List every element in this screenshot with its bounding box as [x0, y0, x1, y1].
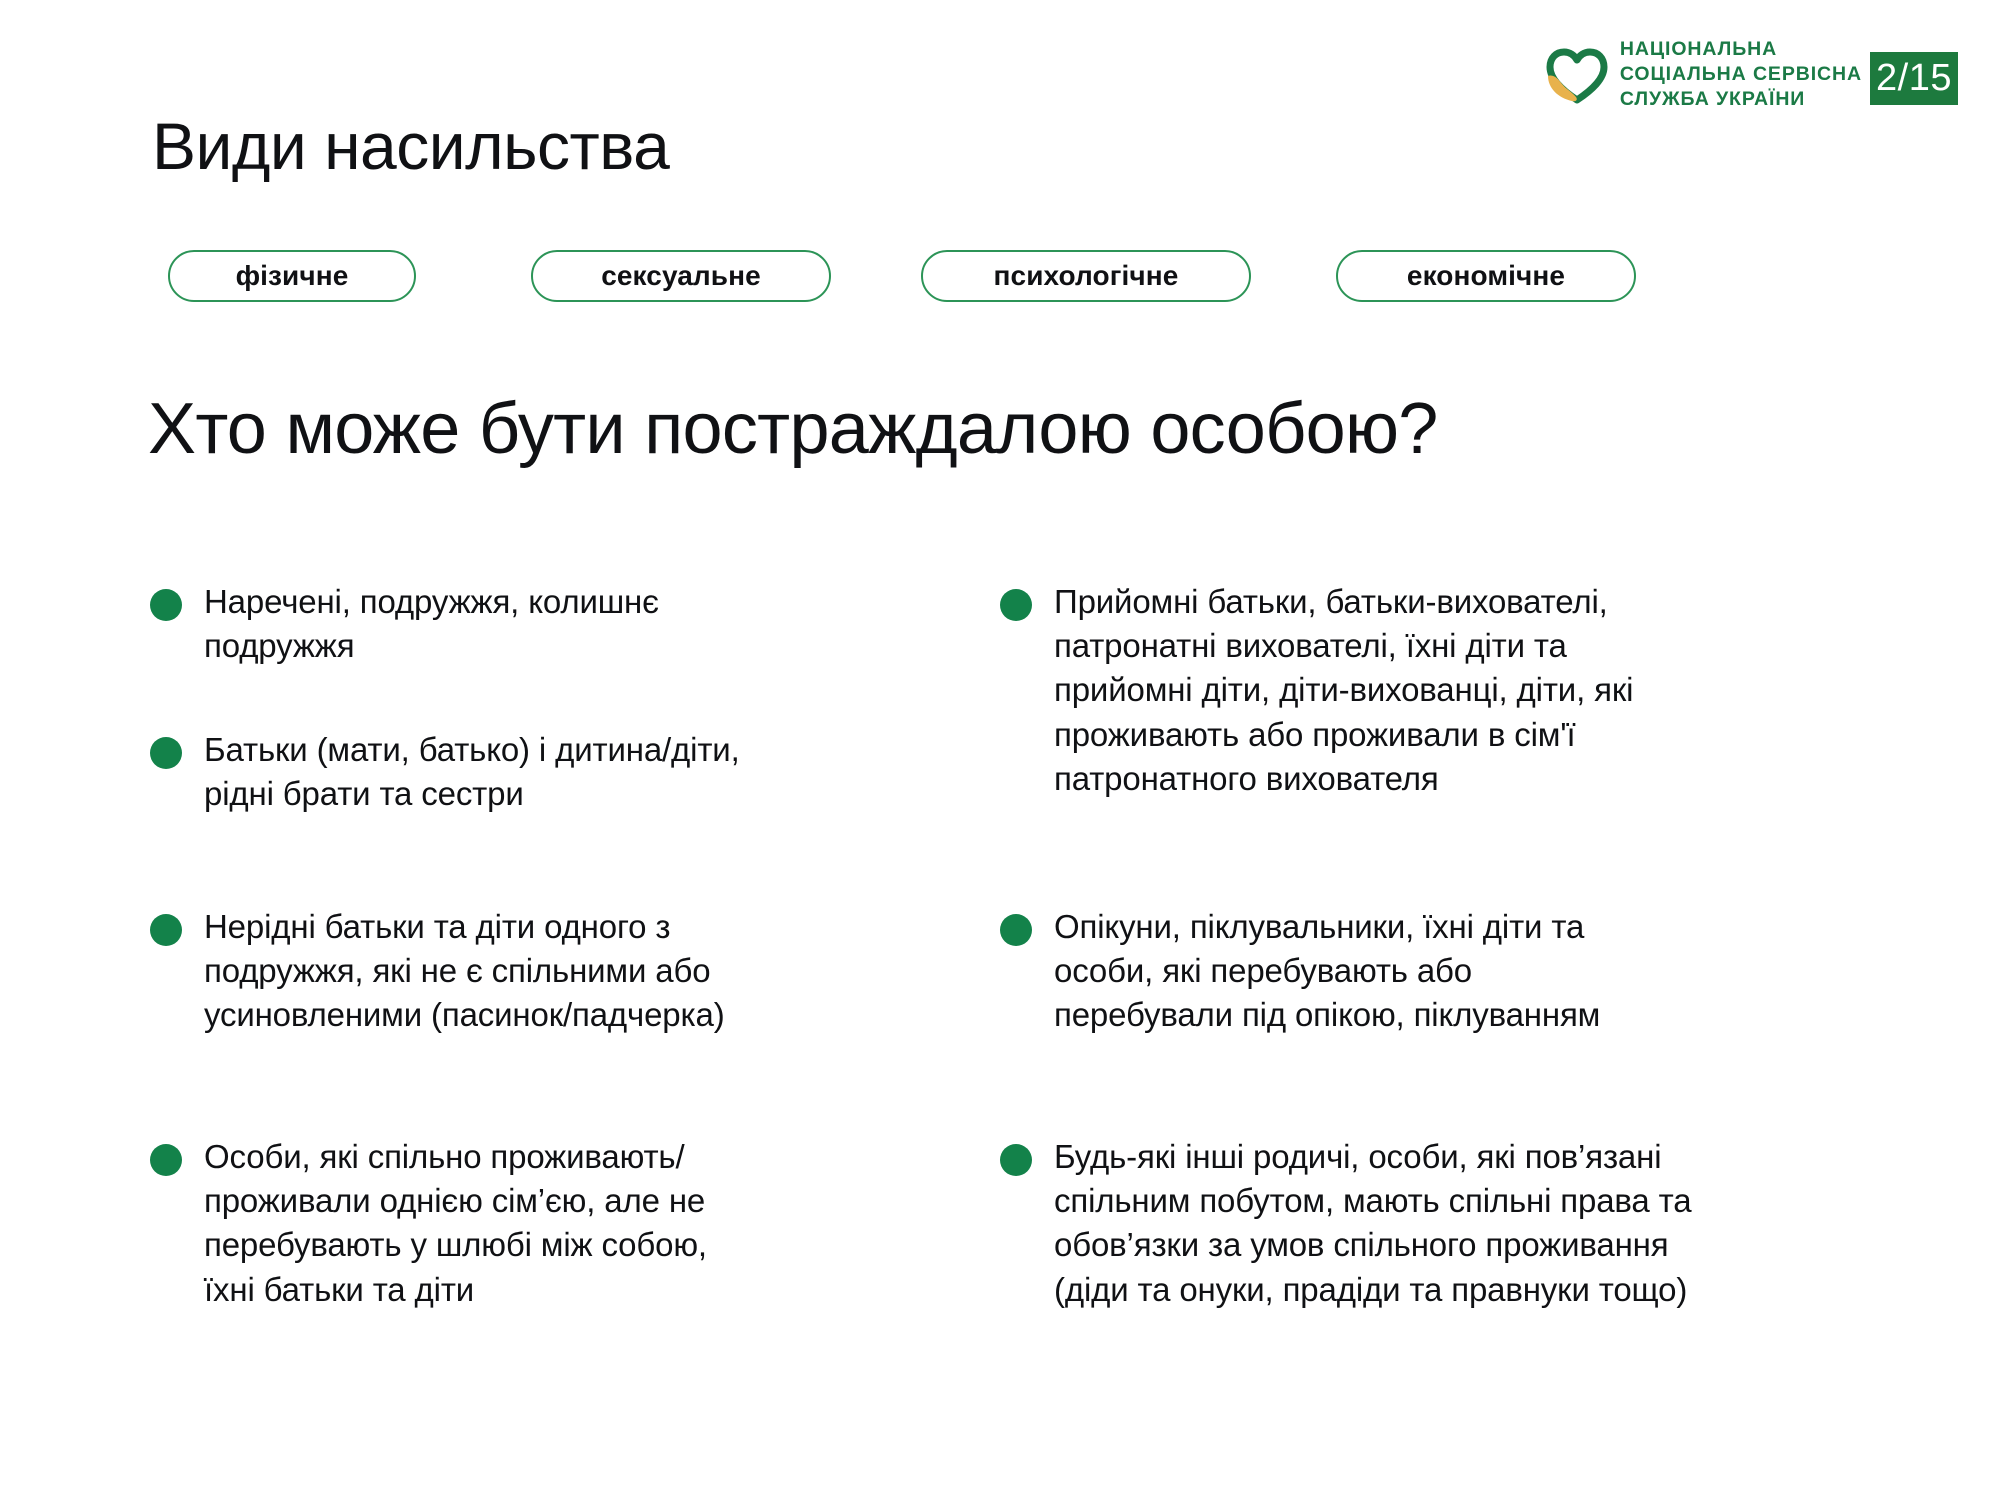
brand-line-3: СЛУЖБА УКРАЇНИ — [1620, 88, 1862, 111]
bullet-dot-icon — [150, 914, 182, 946]
bullet-dot-icon — [1000, 589, 1032, 621]
list-item: Прийомні батьки, батьки-вихователі, патр… — [1000, 580, 1633, 801]
bullet-dot-icon — [1000, 1144, 1032, 1176]
brand-wordmark: НАЦІОНАЛЬНА СОЦІАЛЬНА СЕРВІСНА СЛУЖБА УК… — [1620, 38, 1862, 111]
bullet-dot-icon — [1000, 914, 1032, 946]
brand-line-1: НАЦІОНАЛЬНА — [1620, 38, 1862, 61]
list-item-text: Прийомні батьки, батьки-вихователі, патр… — [1054, 580, 1633, 801]
list-item: Наречені, подружжя, колишнє подружжя — [150, 580, 659, 668]
bullet-dot-icon — [150, 589, 182, 621]
list-item-text: Опікуни, піклувальники, їхні діти та осо… — [1054, 905, 1600, 1038]
list-item: Будь-які інші родичі, особи, які пов’яза… — [1000, 1135, 1691, 1312]
list-item: Опікуни, піклувальники, їхні діти та осо… — [1000, 905, 1600, 1038]
bullet-dot-icon — [150, 737, 182, 769]
brand-line-2: СОЦІАЛЬНА СЕРВІСНА — [1620, 63, 1862, 86]
brand-logo: НАЦІОНАЛЬНА СОЦІАЛЬНА СЕРВІСНА СЛУЖБА УК… — [1546, 38, 1862, 111]
heart-hand-logo-icon — [1546, 46, 1608, 104]
list-item-text: Батьки (мати, батько) і дитина/діти, рід… — [204, 728, 740, 816]
bullet-dot-icon — [150, 1144, 182, 1176]
list-item: Батьки (мати, батько) і дитина/діти, рід… — [150, 728, 740, 816]
violence-types-row: фізичне сексуальне психологічне економіч… — [168, 250, 1636, 302]
list-item: Особи, які спільно проживають/ проживали… — [150, 1135, 707, 1312]
slide-title: Види насильства — [152, 112, 669, 181]
list-item-text: Будь-які інші родичі, особи, які пов’яза… — [1054, 1135, 1691, 1312]
slide-root: НАЦІОНАЛЬНА СОЦІАЛЬНА СЕРВІСНА СЛУЖБА УК… — [0, 0, 2000, 1500]
page-indicator-badge: 2/15 — [1870, 52, 1958, 105]
list-item: Нерідні батьки та діти одного з подружжя… — [150, 905, 725, 1038]
violence-type-pill-ekonomichne[interactable]: економічне — [1336, 250, 1636, 302]
question-heading: Хто може бути постраждалою особою? — [148, 392, 1438, 468]
list-item-text: Наречені, подружжя, колишнє подружжя — [204, 580, 659, 668]
violence-type-pill-seksualne[interactable]: сексуальне — [531, 250, 831, 302]
violence-type-pill-fizychne[interactable]: фізичне — [168, 250, 416, 302]
violence-type-pill-psyhologichne[interactable]: психологічне — [921, 250, 1251, 302]
list-item-text: Особи, які спільно проживають/ проживали… — [204, 1135, 707, 1312]
list-item-text: Нерідні батьки та діти одного з подружжя… — [204, 905, 725, 1038]
